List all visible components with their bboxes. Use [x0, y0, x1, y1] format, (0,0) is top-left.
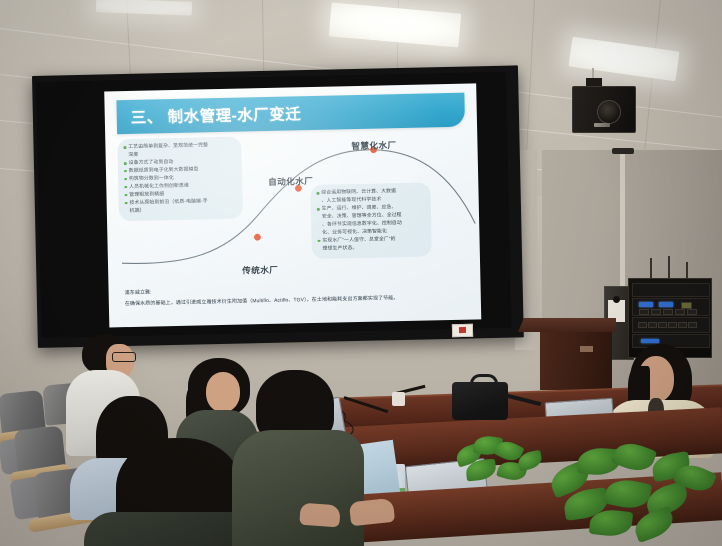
glasses-icon: [112, 352, 136, 362]
potted-plant-right: [452, 430, 548, 486]
rack-unit-amplifier: [632, 298, 710, 316]
antenna-icon: [650, 258, 652, 280]
attendee5-torso: [232, 430, 364, 546]
stage-label-traditional: 传统水厂: [242, 264, 278, 277]
camera-bag[interactable]: [452, 382, 508, 420]
bullet-item: 理想生产状态。: [318, 243, 426, 253]
bullet-dot-icon: [124, 194, 127, 197]
stage-label-smart: 智慧化水厂: [351, 139, 396, 152]
speaker-badge: [594, 123, 610, 127]
attendee3-face: [206, 372, 240, 412]
rack-knob: [613, 296, 620, 303]
conference-room-photo: 三、 制水管理-水厂变迁 传统水厂 自动化水厂 智慧化水厂 工艺由简单到复杂、至…: [0, 0, 722, 546]
bullet-dot-icon: [124, 162, 127, 165]
attendee5-hand: [299, 503, 340, 528]
bullet-dot-icon: [124, 178, 127, 181]
left-feature-bubble: 工艺由简单到复杂、至规范统一完整 深度 设备方式了动到自动 数据纸质到电子化到大…: [117, 137, 243, 221]
speaker-cone-icon: [597, 100, 621, 124]
attendee5-hand: [349, 498, 395, 526]
conduit-bracket: [612, 148, 634, 154]
stage-label-automated: 自动化水厂: [268, 175, 313, 188]
bullet-dot-icon: [317, 208, 320, 211]
bullet-dot-icon: [123, 146, 126, 149]
rack-unit: [632, 283, 710, 297]
right-feature-bubble: 综合运用物联网、云计算、大数据 、人工智能等现代科学技术 生产、运行、维护、调度…: [310, 182, 432, 258]
podium-top: [518, 318, 616, 332]
bullet-dot-icon: [124, 186, 127, 189]
podium-plate: [580, 346, 593, 352]
bullet-dot-icon: [316, 192, 319, 195]
bullet-item: 机端）: [125, 205, 237, 215]
potted-plant-front: [548, 440, 718, 540]
antenna-icon: [668, 256, 670, 280]
presentation-slide: 三、 制水管理-水厂变迁 传统水厂 自动化水厂 智慧化水厂 工艺由简单到复杂、至…: [104, 83, 481, 327]
projection-screen[interactable]: 三、 制水管理-水厂变迁 传统水厂 自动化水厂 智慧化水厂 工艺由简单到复杂、至…: [36, 72, 511, 338]
screen-corner-emblem: [452, 324, 473, 337]
bullet-dot-icon: [125, 202, 128, 205]
podium-body: [540, 330, 612, 390]
bullet-dot-icon: [124, 170, 127, 173]
bullet-dot-icon: [318, 240, 321, 243]
rack-unit-mixer: [632, 317, 710, 333]
slide-title-text: 三、 制水管理-水厂变迁: [117, 102, 302, 128]
cable-adapter: [392, 392, 405, 406]
